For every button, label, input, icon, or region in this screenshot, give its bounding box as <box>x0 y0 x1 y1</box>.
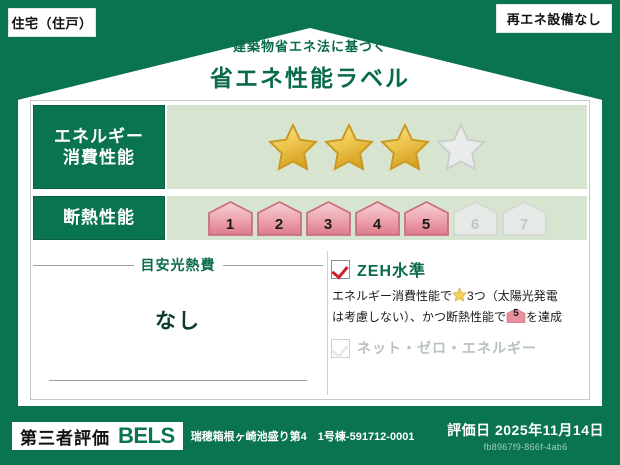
energy-label-line1: エネルギー <box>54 126 144 147</box>
insulation-house-empty: 7 <box>501 200 548 236</box>
zeh-desc-star-count: 3つ（太陽光発電 <box>467 289 558 303</box>
panel-vertical-divider <box>327 251 328 395</box>
insulation-grade-number: 4 <box>354 216 401 233</box>
insulation-house-empty: 6 <box>452 200 499 236</box>
insulation-grade-number: 2 <box>256 216 303 233</box>
energy-performance-label-box: エネルギー 消費性能 <box>33 105 165 189</box>
third-party-evaluation-text: 第三者評価 <box>20 424 110 449</box>
ratings-panel: エネルギー 消費性能 断熱性能 1234567 目安光熱費 なし <box>30 100 590 400</box>
insulation-performance-label-box: 断熱性能 <box>33 196 165 240</box>
utility-cost-title: 目安光熱費 <box>141 255 216 275</box>
bels-badge: 第三者評価 BELS <box>12 422 183 450</box>
energy-label-line2: 消費性能 <box>63 147 135 168</box>
cost-rule-right <box>223 265 324 266</box>
energy-performance-row: エネルギー 消費性能 <box>31 103 589 191</box>
label-subtitle: 建築物省エネ法に基づく <box>0 36 620 55</box>
insulation-grade-number: 3 <box>305 216 352 233</box>
evaluation-date: 評価日 2025年11月14日 <box>447 420 604 440</box>
utility-cost-section: 目安光熱費 なし <box>33 249 323 397</box>
insulation-grade-number: 5 <box>403 216 450 233</box>
star-filled-icon <box>379 122 431 172</box>
utility-cost-heading: 目安光熱費 <box>33 255 323 275</box>
zeh-desc-part3: を達成 <box>526 310 562 324</box>
building-name: 瑞穂箱根ヶ崎池盛り第4 1号棟-591712-0001 <box>191 428 415 444</box>
net-zero-energy-checkbox[interactable] <box>331 339 350 358</box>
zeh-checkbox[interactable] <box>331 260 350 279</box>
zeh-desc-part2: は考慮しない）、かつ断熱性能で <box>332 310 506 324</box>
zeh-section: ZEH水準 エネルギー消費性能で 3つ（太陽光発電 は考慮しない）、かつ断熱性能… <box>331 249 587 397</box>
net-zero-energy-row: ネット・ゼロ・エネルギー <box>331 338 587 358</box>
label-title-block: 建築物省エネ法に基づく 省エネ性能ラベル <box>0 36 620 93</box>
insulation-house-icons: 1234567 <box>207 200 548 236</box>
evaluation-info: 評価日 2025年11月14日 fb8967f9-866f-4ab6 <box>447 420 604 452</box>
insulation-grade-strip: 1234567 <box>167 196 587 240</box>
label-footer: 第三者評価 BELS 瑞穂箱根ヶ崎池盛り第4 1号棟-591712-0001 評… <box>0 407 620 465</box>
cost-rule-left <box>33 265 134 266</box>
building-type-tag: 住宅（住戸） <box>8 8 96 37</box>
insulation-house-filled: 5 <box>403 200 450 236</box>
bels-logo-text: BELS <box>118 423 175 449</box>
inline-house-grade: 5 <box>506 306 526 322</box>
star-rating-strip <box>167 105 587 189</box>
zeh-desc-part1: エネルギー消費性能で <box>332 289 452 303</box>
star-filled-icon <box>323 122 375 172</box>
energy-performance-label: 住宅（住戸） 再エネ設備なし 建築物省エネ法に基づく 省エネ性能ラベル エネルギ… <box>0 0 620 465</box>
insulation-house-filled: 4 <box>354 200 401 236</box>
insulation-house-filled: 2 <box>256 200 303 236</box>
inline-house-icon: 5 <box>506 308 526 323</box>
cost-bottom-rule <box>49 380 307 381</box>
inline-star-icon <box>452 287 467 308</box>
renewable-equipment-tag: 再エネ設備なし <box>496 4 612 33</box>
insulation-house-filled: 1 <box>207 200 254 236</box>
zeh-description: エネルギー消費性能で 3つ（太陽光発電 は考慮しない）、かつ断熱性能で 5 を達… <box>332 287 587 326</box>
insulation-label-line1: 断熱性能 <box>63 207 135 228</box>
label-main-title: 省エネ性能ラベル <box>0 59 620 93</box>
star-filled-icon <box>267 122 319 172</box>
insulation-grade-number: 1 <box>207 216 254 233</box>
zeh-heading-row: ZEH水準 <box>331 257 587 281</box>
star-empty-icon <box>435 122 487 172</box>
insulation-grade-number: 7 <box>501 216 548 233</box>
insulation-grade-number: 6 <box>452 216 499 233</box>
document-hash: fb8967f9-866f-4ab6 <box>447 442 604 452</box>
utility-cost-value: なし <box>33 305 323 335</box>
net-zero-energy-title: ネット・ゼロ・エネルギー <box>357 338 537 358</box>
zeh-title: ZEH水準 <box>357 257 426 281</box>
insulation-performance-row: 断熱性能 1234567 <box>31 193 589 243</box>
insulation-house-filled: 3 <box>305 200 352 236</box>
